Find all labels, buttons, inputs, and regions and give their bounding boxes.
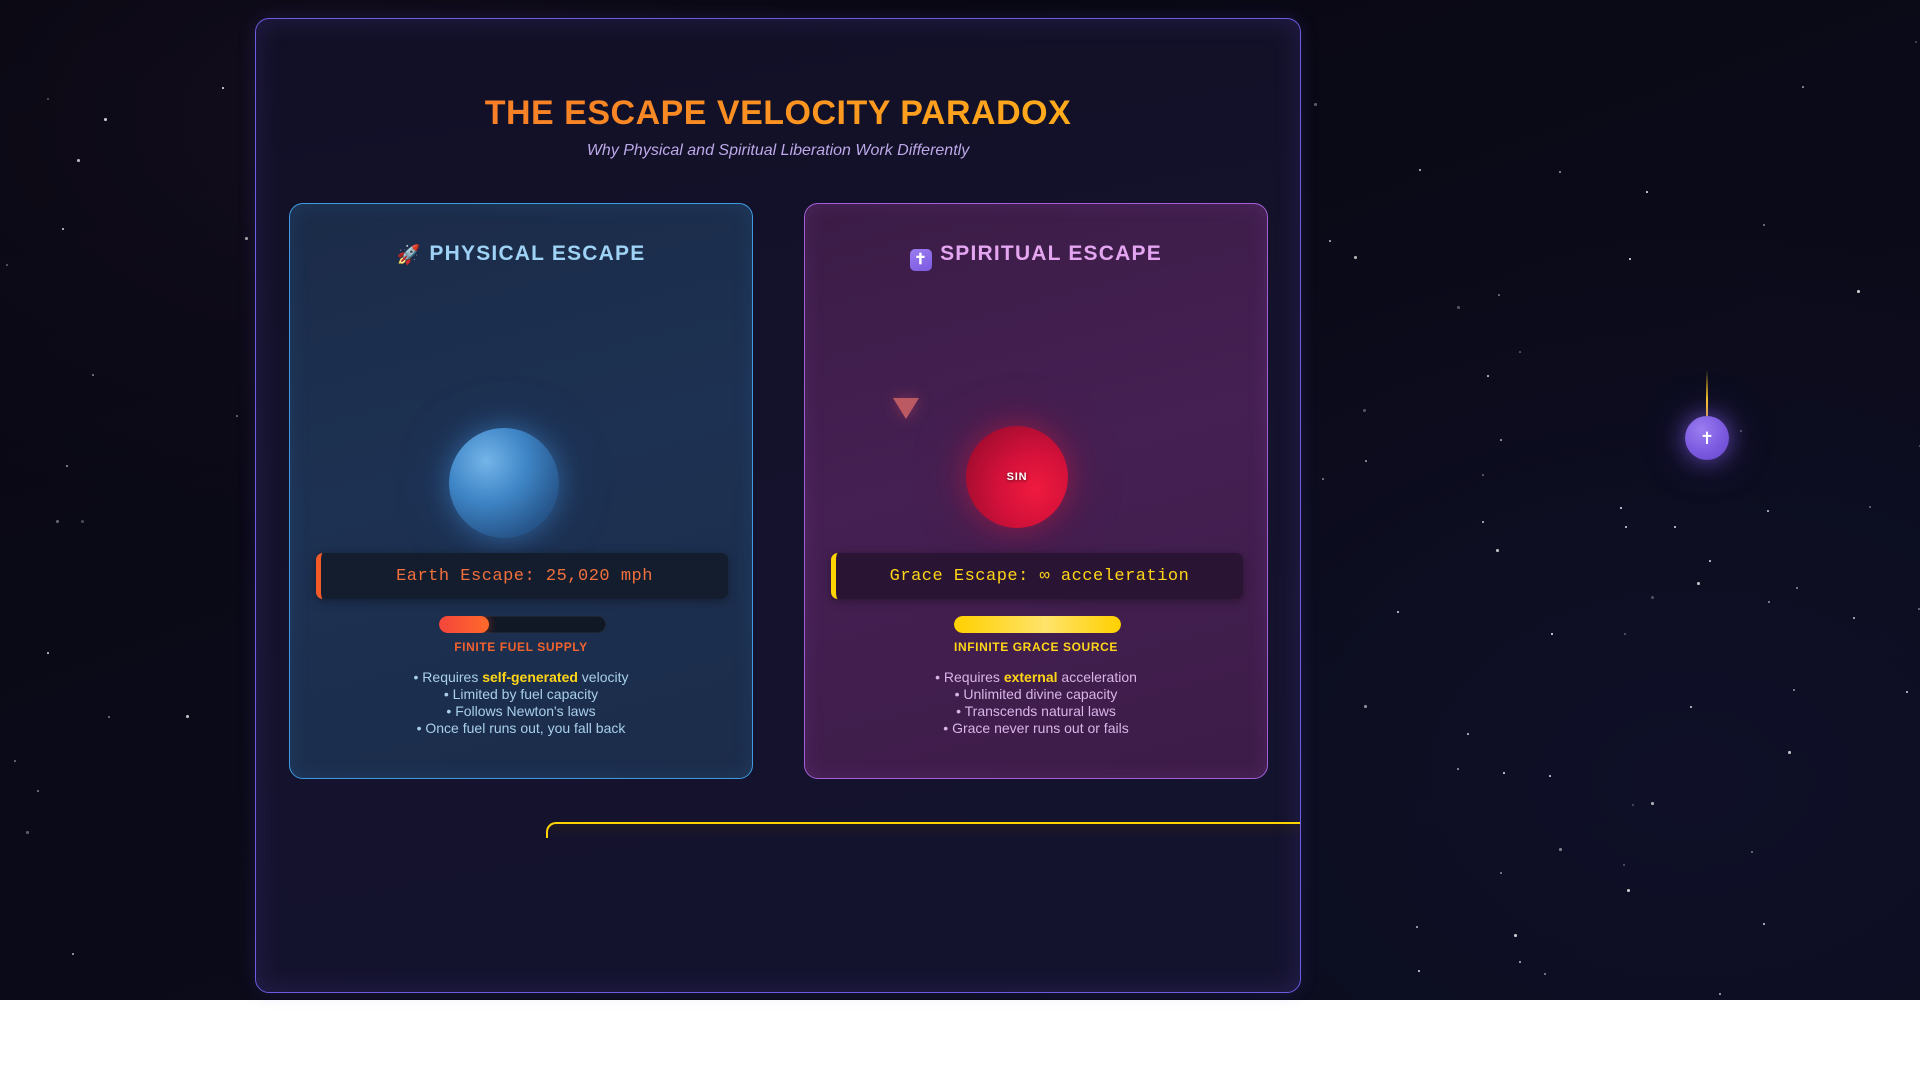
star bbox=[62, 228, 64, 230]
earth-planet-icon bbox=[449, 428, 559, 538]
bullet-pre: • Limited by fuel capacity bbox=[444, 686, 598, 702]
finite-fuel-meter bbox=[439, 616, 606, 633]
bottom-highlight-strip bbox=[546, 822, 1301, 838]
card-physical-heading: 🚀PHYSICAL ESCAPE bbox=[290, 242, 752, 267]
star bbox=[1500, 439, 1502, 441]
star bbox=[1314, 103, 1317, 106]
sin-planet-icon: SIN bbox=[966, 426, 1068, 528]
star bbox=[1632, 804, 1634, 806]
star bbox=[1496, 549, 1499, 552]
star bbox=[1503, 772, 1505, 774]
star bbox=[47, 652, 49, 654]
infinite-grace-meter-fill bbox=[954, 616, 1121, 633]
cross-icon: ✝ bbox=[910, 249, 932, 271]
card-spiritual-heading-text: SPIRITUAL ESCAPE bbox=[940, 242, 1162, 265]
bullet-post: acceleration bbox=[1058, 669, 1137, 685]
star bbox=[1857, 290, 1860, 293]
star bbox=[1690, 706, 1692, 708]
star bbox=[236, 415, 238, 417]
star bbox=[81, 520, 84, 523]
star bbox=[1467, 733, 1469, 735]
list-item: • Unlimited divine capacity bbox=[805, 686, 1267, 703]
star bbox=[1763, 923, 1765, 925]
star bbox=[1457, 768, 1459, 770]
card-physical-escape[interactable]: 🚀PHYSICAL ESCAPE Earth Escape: 25,020 mp… bbox=[289, 203, 753, 779]
star bbox=[1853, 617, 1855, 619]
main-panel: THE ESCAPE VELOCITY PARADOX Why Physical… bbox=[255, 18, 1301, 993]
star bbox=[1329, 240, 1331, 242]
list-item: • Transcends natural laws bbox=[805, 703, 1267, 720]
bullet-post: velocity bbox=[578, 669, 629, 685]
star bbox=[1906, 691, 1908, 693]
star bbox=[1915, 41, 1917, 43]
list-item: • Requires self-generated velocity bbox=[290, 669, 752, 686]
star bbox=[1651, 596, 1654, 599]
cross-beacon: ✝ bbox=[1685, 370, 1729, 460]
star bbox=[26, 831, 29, 834]
finite-fuel-meter-fill bbox=[439, 616, 489, 633]
infinite-grace-meter bbox=[954, 616, 1121, 633]
star bbox=[1419, 169, 1421, 171]
star bbox=[1869, 506, 1871, 508]
star bbox=[1397, 611, 1399, 613]
beacon-cross-icon: ✝ bbox=[1700, 430, 1714, 447]
spiritual-stage: SIN bbox=[805, 278, 1267, 550]
bullet-pre: • Transcends natural laws bbox=[956, 703, 1116, 719]
star bbox=[1624, 633, 1626, 635]
star bbox=[1559, 848, 1562, 851]
bullet-highlight: self-generated bbox=[482, 669, 578, 685]
star bbox=[1514, 934, 1517, 937]
star bbox=[222, 87, 224, 89]
star bbox=[1559, 171, 1561, 173]
star bbox=[1487, 375, 1489, 377]
star bbox=[1751, 851, 1753, 853]
star bbox=[56, 520, 59, 523]
card-spiritual-escape[interactable]: ✝SPIRITUAL ESCAPE SIN Grace Escape: ∞ ac… bbox=[804, 203, 1268, 779]
star bbox=[245, 237, 248, 240]
list-item: • Limited by fuel capacity bbox=[290, 686, 752, 703]
star bbox=[186, 715, 189, 718]
star bbox=[1549, 775, 1551, 777]
star bbox=[72, 953, 74, 955]
star bbox=[1322, 478, 1324, 480]
star bbox=[1697, 582, 1700, 585]
list-item: • Requires external acceleration bbox=[805, 669, 1267, 686]
star bbox=[1796, 587, 1798, 589]
bullet-pre: • Follows Newton's laws bbox=[446, 703, 595, 719]
list-item: • Once fuel runs out, you fall back bbox=[290, 720, 752, 737]
card-physical-heading-text: PHYSICAL ESCAPE bbox=[429, 242, 645, 265]
star bbox=[6, 264, 8, 266]
star bbox=[1627, 889, 1630, 892]
star bbox=[37, 790, 39, 792]
beacon-orb: ✝ bbox=[1685, 416, 1729, 460]
bullet-highlight: external bbox=[1004, 669, 1058, 685]
page-title: THE ESCAPE VELOCITY PARADOX bbox=[256, 94, 1300, 133]
sin-planet-label: SIN bbox=[1007, 471, 1028, 483]
star bbox=[1918, 608, 1920, 610]
star bbox=[1623, 864, 1625, 866]
star bbox=[1709, 560, 1711, 562]
star bbox=[1625, 526, 1627, 528]
physical-stage bbox=[290, 278, 752, 550]
star bbox=[1620, 507, 1622, 509]
star bbox=[1763, 224, 1765, 226]
star bbox=[1646, 191, 1648, 193]
spiritual-readout: Grace Escape: ∞ acceleration bbox=[831, 553, 1243, 599]
star bbox=[1651, 802, 1654, 805]
star bbox=[1482, 474, 1484, 476]
star bbox=[104, 118, 107, 121]
page-subtitle: Why Physical and Spiritual Liberation Wo… bbox=[256, 142, 1300, 160]
list-item: • Grace never runs out or fails bbox=[805, 720, 1267, 737]
star bbox=[1482, 521, 1484, 523]
star bbox=[1802, 86, 1804, 88]
star bbox=[1500, 872, 1502, 874]
star bbox=[1519, 961, 1521, 963]
star bbox=[108, 716, 110, 718]
bullet-pre: • Unlimited divine capacity bbox=[955, 686, 1118, 702]
rocket-icon: 🚀 bbox=[397, 245, 422, 266]
list-item: • Follows Newton's laws bbox=[290, 703, 752, 720]
physical-readout: Earth Escape: 25,020 mph bbox=[316, 553, 728, 599]
star bbox=[1354, 256, 1357, 259]
star bbox=[1416, 926, 1418, 928]
star bbox=[1793, 689, 1795, 691]
star bbox=[1363, 409, 1366, 412]
star bbox=[1629, 258, 1631, 260]
bullet-pre: • Once fuel runs out, you fall back bbox=[417, 720, 626, 736]
star bbox=[1767, 510, 1769, 512]
physical-bullet-list: • Requires self-generated velocity • Lim… bbox=[290, 669, 752, 737]
finite-fuel-meter-label: FINITE FUEL SUPPLY bbox=[290, 640, 752, 654]
star bbox=[1365, 460, 1367, 462]
star bbox=[1519, 351, 1521, 353]
star bbox=[1457, 306, 1460, 309]
star bbox=[1418, 970, 1420, 972]
star bbox=[47, 98, 49, 100]
downward-arrow-icon bbox=[893, 398, 919, 419]
card-spiritual-heading: ✝SPIRITUAL ESCAPE bbox=[805, 242, 1267, 271]
bullet-pre: • Requires bbox=[935, 669, 1004, 685]
star bbox=[1788, 751, 1791, 754]
star bbox=[1740, 430, 1742, 432]
star bbox=[77, 159, 80, 162]
infinite-grace-meter-label: INFINITE GRACE SOURCE bbox=[805, 640, 1267, 654]
star bbox=[1551, 633, 1553, 635]
star bbox=[1768, 601, 1770, 603]
star bbox=[1719, 993, 1721, 995]
bullet-pre: • Requires bbox=[414, 669, 483, 685]
star bbox=[1498, 294, 1500, 296]
spiritual-bullet-list: • Requires external acceleration • Unlim… bbox=[805, 669, 1267, 737]
star bbox=[92, 374, 94, 376]
star bbox=[66, 465, 68, 467]
star bbox=[1364, 705, 1367, 708]
bullet-pre: • Grace never runs out or fails bbox=[943, 720, 1128, 736]
star bbox=[1544, 973, 1546, 975]
star bbox=[14, 760, 16, 762]
star bbox=[1674, 526, 1676, 528]
